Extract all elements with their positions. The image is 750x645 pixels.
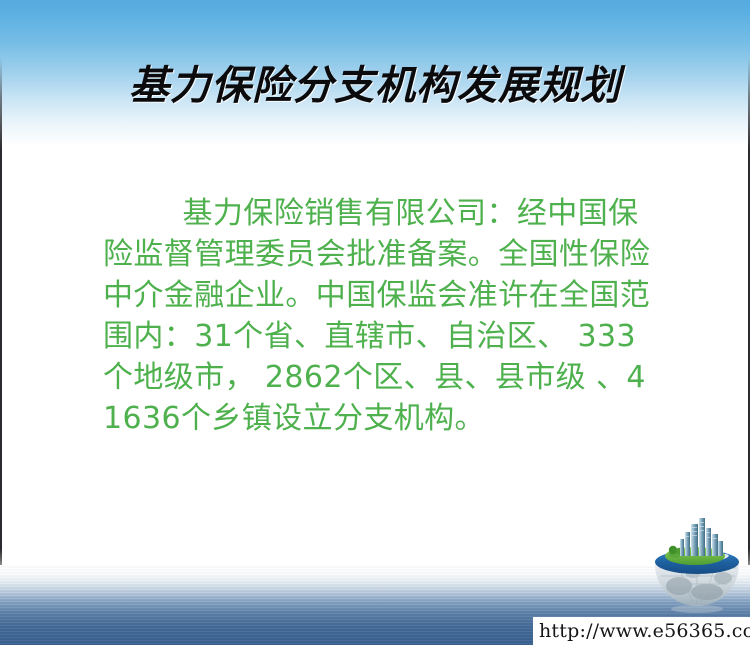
slide-title: 基力保险分支机构发展规划 (0, 58, 750, 114)
presentation-slide: 基力保险分支机构发展规划 基力保险销售有限公司：经中国保险监督管理委员会批准备案… (0, 0, 750, 645)
globe-icon (649, 512, 745, 616)
watermark-url-text: http://www.e56365.com (539, 620, 750, 642)
earth-globe-city-graphic (649, 512, 745, 616)
watermark-url-plate: http://www.e56365.com (533, 617, 750, 645)
slide-body-paragraph: 基力保险销售有限公司：经中国保险监督管理委员会批准备案。全国性保险中介金融企业。… (103, 193, 655, 439)
